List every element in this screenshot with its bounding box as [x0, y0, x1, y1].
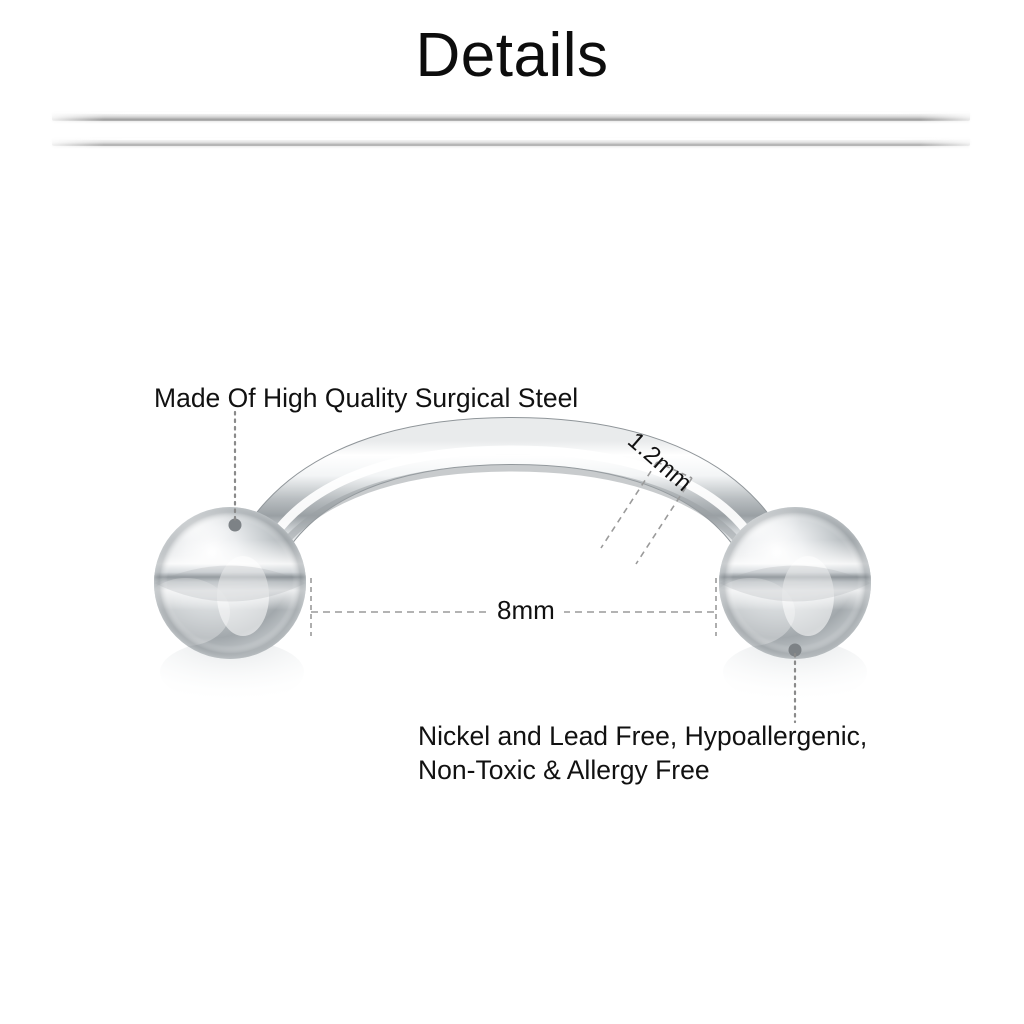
callout-surgical-steel: Made Of High Quality Surgical Steel: [154, 381, 578, 415]
curved-barbell-svg: [0, 0, 1024, 1024]
product-illustration: [0, 0, 1024, 1024]
callout-nickel-free: Nickel and Lead Free, Hypoallergenic, No…: [418, 719, 867, 788]
product-detail-image: Details: [0, 0, 1024, 1024]
dimension-label-length: 8mm: [488, 595, 564, 626]
barbell-shaft: [245, 441, 779, 592]
